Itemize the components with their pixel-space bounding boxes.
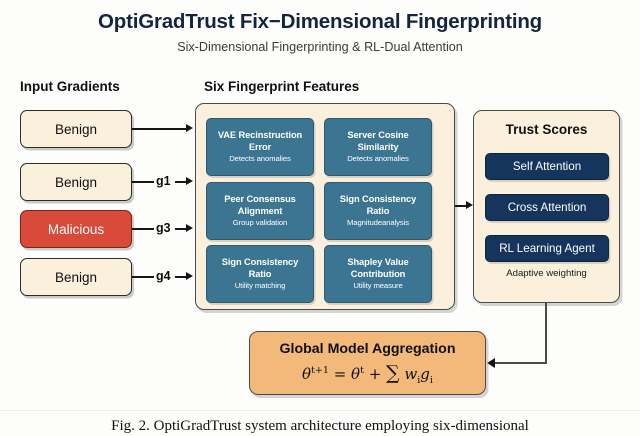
feature-title: Peer Consensus Alignment bbox=[210, 194, 310, 217]
figure-subtitle: Six-Dimensional Fingerprinting & RL-Dual… bbox=[0, 40, 640, 54]
gradient-arrow-head-4 bbox=[186, 272, 193, 280]
gradient-arrow-head-2 bbox=[186, 177, 193, 185]
trust-label: Self Attention bbox=[513, 160, 581, 173]
feature-subtitle: Magnitudeanalysis bbox=[347, 218, 409, 228]
feature-subtitle: Detects anomalies bbox=[229, 154, 291, 164]
feature-subtitle: Detects anomalies bbox=[347, 154, 409, 164]
gradient-arrow-label-g3: g3 bbox=[156, 221, 171, 235]
feature-title: Sign Consistency Ratio bbox=[328, 194, 428, 217]
gradient-arrow-line-3 bbox=[132, 228, 154, 230]
gradient-label: Benign bbox=[55, 175, 97, 190]
gradient-arrow-label-g4: g4 bbox=[156, 269, 171, 283]
gradient-arrow-line-4 bbox=[132, 276, 154, 278]
gradient-arrow-head-3 bbox=[186, 224, 193, 232]
formula-plus: + bbox=[369, 365, 382, 383]
feature-box-peer-consensus-alignment[interactable]: Peer Consensus Alignment Group validatio… bbox=[206, 182, 314, 240]
trust-label: Cross Attention bbox=[508, 201, 587, 214]
gradient-label: Benign bbox=[55, 122, 97, 137]
trust-box-self-attention[interactable]: Self Attention bbox=[485, 153, 609, 180]
trust-scores-title: Trust Scores bbox=[473, 122, 620, 137]
gradient-box-malicious[interactable]: Malicious bbox=[20, 210, 132, 248]
features-to-trust-arrow-head bbox=[466, 201, 473, 209]
formula-equals: = bbox=[334, 365, 347, 383]
feature-box-sign-consistency-ratio-utility[interactable]: Sign Consistency Ratio Utility matching bbox=[206, 245, 314, 303]
trust-box-cross-attention[interactable]: Cross Attention bbox=[485, 194, 609, 221]
figure-title: OptiGradTrust Fix−Dimensional Fingerprin… bbox=[0, 10, 640, 34]
feature-title: VAE Recinstruction Error bbox=[210, 130, 310, 153]
feature-subtitle: Utility matching bbox=[235, 281, 286, 291]
trust-to-aggregation-connector-vertical bbox=[545, 303, 547, 364]
aggregation-formula: θt+1 = θt + ∑ wigi bbox=[302, 362, 433, 386]
input-gradients-header: Input Gradients bbox=[20, 79, 120, 94]
gradient-label: Malicious bbox=[48, 222, 104, 237]
formula-g-sub: i bbox=[430, 375, 433, 386]
feature-subtitle: Utility measure bbox=[353, 281, 402, 291]
formula-theta-2: θ bbox=[351, 365, 360, 383]
gradient-box-benign-2[interactable]: Benign bbox=[20, 163, 132, 201]
formula-g: g bbox=[420, 365, 430, 383]
gradient-label: Benign bbox=[55, 270, 97, 285]
figure-caption: Fig. 2. OptiGradTrust system architectur… bbox=[0, 418, 640, 435]
trust-box-rl-learning-agent[interactable]: RL Learning Agent bbox=[485, 235, 609, 262]
caption-divider bbox=[0, 410, 640, 411]
fingerprint-features-header: Six Fingerprint Features bbox=[204, 79, 359, 94]
feature-box-vae-reconstruction-error[interactable]: VAE Recinstruction Error Detects anomali… bbox=[206, 118, 314, 176]
gradient-arrow-head-1 bbox=[186, 124, 193, 132]
formula-sup-2: t bbox=[360, 365, 364, 376]
trust-to-aggregation-arrow-head bbox=[487, 358, 495, 368]
formula-sigma: ∑ bbox=[386, 362, 400, 384]
formula-theta-1: θ bbox=[302, 365, 311, 383]
aggregation-title: Global Model Aggregation bbox=[279, 341, 455, 357]
feature-box-sign-consistency-ratio-magnitude[interactable]: Sign Consistency Ratio Magnitudeanalysis bbox=[324, 182, 432, 240]
feature-title: Server Cosine Similarity bbox=[328, 130, 428, 153]
trust-label: RL Learning Agent bbox=[499, 242, 595, 255]
gradient-box-benign-1[interactable]: Benign bbox=[20, 110, 132, 148]
feature-box-shapley-value-contribution[interactable]: Shapley Value Contribution Utility measu… bbox=[324, 245, 432, 303]
gradient-box-benign-3[interactable]: Benign bbox=[20, 258, 132, 296]
figure-canvas: OptiGradTrust Fix−Dimensional Fingerprin… bbox=[0, 0, 640, 436]
feature-subtitle: Group validation bbox=[233, 218, 287, 228]
trust-scores-caption: Adaptive weighting bbox=[473, 268, 620, 279]
gradient-arrow-label-g1: g1 bbox=[156, 174, 171, 188]
gradient-arrow-line-1 bbox=[132, 128, 187, 130]
feature-title: Shapley Value Contribution bbox=[328, 257, 428, 280]
trust-to-aggregation-connector-horizontal bbox=[495, 362, 547, 364]
formula-sup-1: t+1 bbox=[311, 365, 329, 376]
formula-w: w bbox=[404, 365, 417, 383]
feature-title: Sign Consistency Ratio bbox=[210, 257, 310, 280]
global-model-aggregation-box[interactable]: Global Model Aggregation θt+1 = θt + ∑ w… bbox=[249, 331, 486, 395]
gradient-arrow-line-2 bbox=[132, 181, 154, 183]
feature-box-server-cosine-similarity[interactable]: Server Cosine Similarity Detects anomali… bbox=[324, 118, 432, 176]
